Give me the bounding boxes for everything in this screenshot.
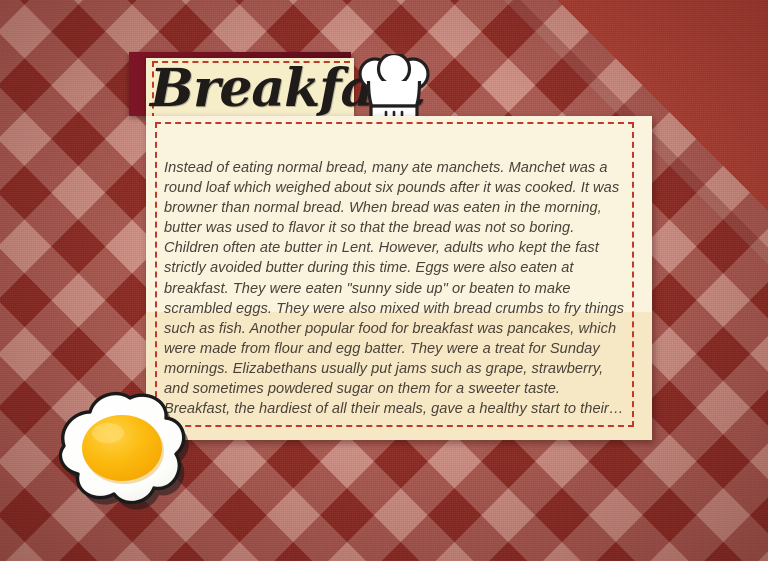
page-title: Breakfast <box>150 56 390 122</box>
body-paragraph: Instead of eating normal bread, many ate… <box>164 158 626 419</box>
fried-egg-icon <box>34 376 202 516</box>
slide-canvas: Breakfast Instead of eating normal bread… <box>0 0 768 561</box>
